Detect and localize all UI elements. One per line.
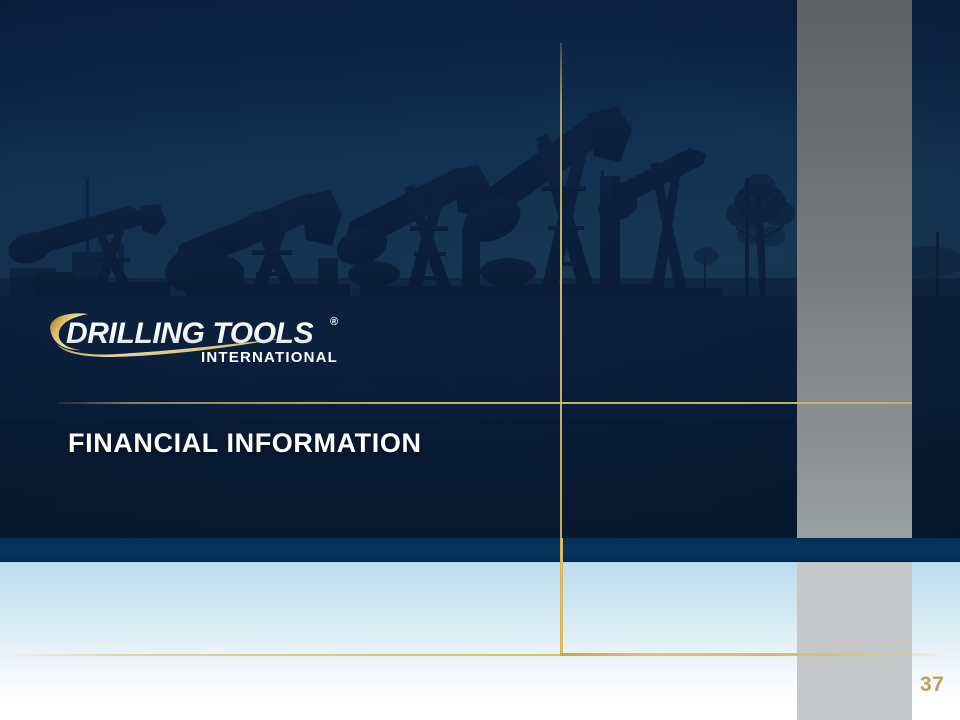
slide-title: FINANCIAL INFORMATION	[68, 428, 422, 459]
company-logo: DRILLING TOOLS ® INTERNATIONAL	[48, 310, 368, 368]
logo-wordmark-primary: DRILLING TOOLS	[66, 317, 314, 350]
gray-accent-bar-bottom	[797, 562, 912, 720]
slide-canvas: DRILLING TOOLS ® INTERNATIONAL FINANCIAL…	[0, 0, 960, 720]
page-number: 37	[920, 673, 944, 697]
gold-rule-horizontal-lower	[560, 653, 942, 656]
gold-rule-horizontal-lower-left	[0, 654, 560, 656]
registered-trademark-icon: ®	[330, 316, 338, 328]
gold-rule-vertical-lower	[560, 538, 563, 656]
gray-accent-bar-top	[797, 0, 912, 538]
gold-rule-vertical-upper	[560, 43, 562, 538]
drilling-tools-international-logo: DRILLING TOOLS ® INTERNATIONAL	[48, 310, 368, 368]
gold-rule-horizontal-upper	[58, 402, 912, 404]
navy-divider-band	[0, 538, 960, 562]
logo-wordmark-secondary: INTERNATIONAL	[201, 349, 338, 366]
